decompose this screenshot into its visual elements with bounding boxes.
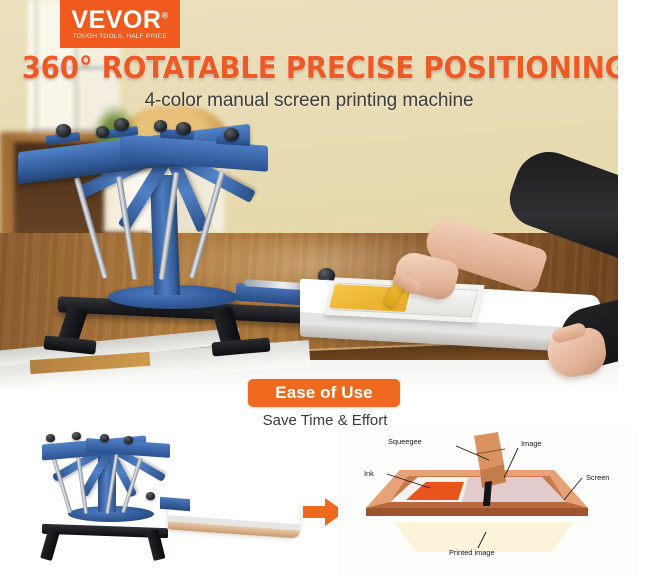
logo-wordmark: VEVOR®	[71, 8, 168, 33]
press-knob-6	[224, 128, 239, 141]
thumb-knob-3	[100, 434, 109, 442]
diagram-label-squeegee: Squeegee	[388, 437, 422, 446]
press-knob-4	[154, 120, 167, 132]
thumb-carriage	[160, 497, 190, 512]
diagram-label-printed-image: Printed image	[449, 548, 495, 557]
thumb-knob-2	[72, 432, 81, 440]
press-knob-1	[56, 124, 71, 137]
save-time-effort-label: Save Time & Effort	[0, 412, 650, 429]
product-thumbnail	[20, 432, 310, 572]
diagram-label-ink: Ink	[364, 469, 374, 478]
diagram-label-image: Image	[521, 439, 542, 448]
thumb-knob-4	[124, 436, 133, 444]
ease-of-use-badge-label: Ease of Use	[275, 383, 372, 403]
press-knob-3	[114, 118, 129, 131]
diagram-label-screen: Screen	[586, 473, 609, 482]
press-knob-2	[96, 126, 109, 138]
screen-printing-diagram: Squeegee Image Ink Screen Printed image	[338, 430, 638, 576]
thumb-knob-1	[46, 434, 55, 442]
logo-tagline: TOUGH TOOLS, HALF PRICE	[73, 34, 167, 40]
press-knob-5	[176, 122, 191, 135]
hero-banner: VEVOR® TOUGH TOOLS, HALF PRICE 360° ROTA…	[0, 0, 618, 394]
hero-subheadline: 4-color manual screen printing machine	[0, 90, 618, 112]
ease-of-use-badge: Ease of Use	[248, 379, 400, 407]
vevor-logo: VEVOR® TOUGH TOOLS, HALF PRICE	[60, 0, 180, 48]
thumb-knob-5	[146, 492, 155, 500]
hero-headline: 360° ROTATABLE PRECISE POSITIONING	[22, 54, 597, 84]
